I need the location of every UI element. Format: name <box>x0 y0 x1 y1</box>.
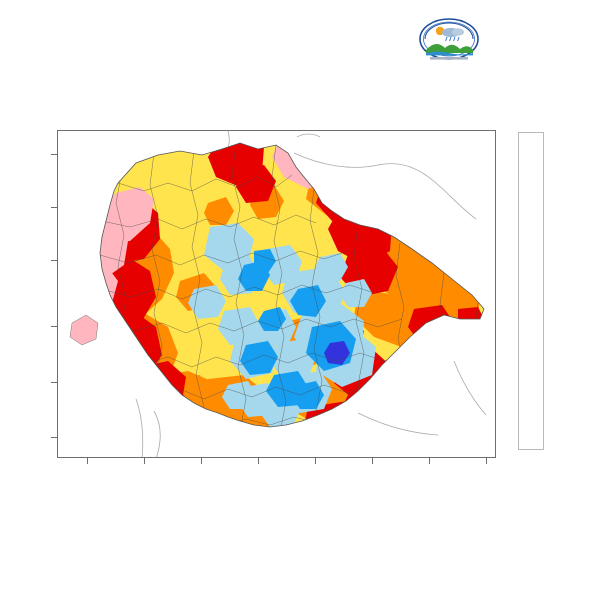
y-tick-14N <box>51 154 57 155</box>
y-tick-10N <box>51 260 57 261</box>
x-tick-34E <box>87 458 88 464</box>
x-tick-36E <box>144 458 145 464</box>
x-tick-38E <box>201 458 202 464</box>
x-tick-42E <box>315 458 316 464</box>
y-tick-8N <box>51 326 57 327</box>
ethiopia-temperature-choropleth <box>58 131 496 458</box>
chart-canvas <box>0 0 600 600</box>
temperature-colorbar <box>518 132 544 450</box>
x-tick-48E <box>486 458 487 464</box>
y-tick-6N <box>51 382 57 383</box>
y-tick-4N <box>51 437 57 438</box>
y-tick-12N <box>51 207 57 208</box>
ethiopian-meteorological-institute-logo <box>418 17 480 63</box>
map-plot-area <box>57 130 496 458</box>
x-tick-44E <box>372 458 373 464</box>
x-tick-40E <box>258 458 259 464</box>
x-tick-46E <box>429 458 430 464</box>
